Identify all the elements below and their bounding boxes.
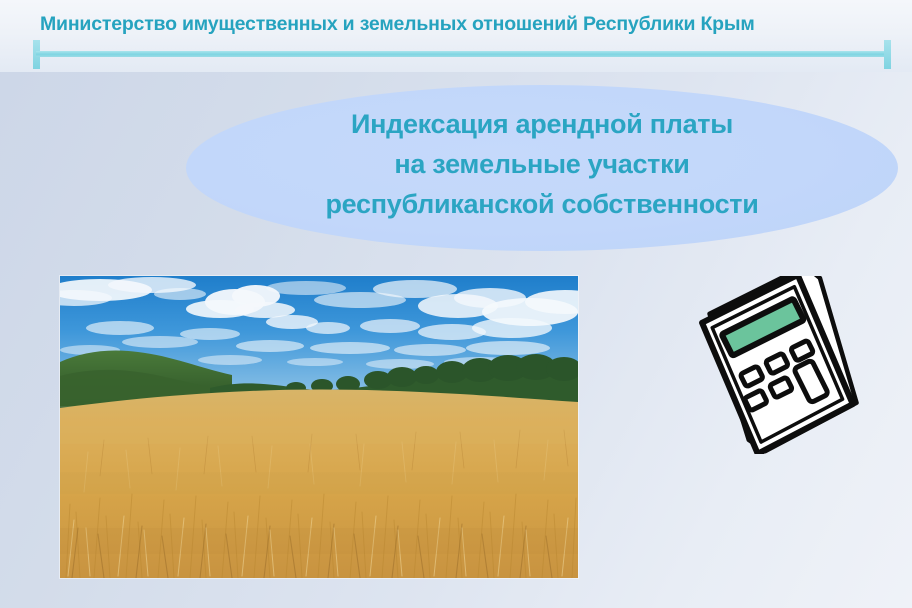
slide-title: Индексация арендной платы на земельные у… — [196, 104, 888, 224]
title-line-1: Индексация арендной платы — [196, 104, 888, 144]
header-rule-line — [36, 51, 889, 57]
title-line-2: на земельные участки — [196, 144, 888, 184]
wheat-field-photo — [60, 276, 578, 578]
title-line-3: республиканской собственности — [196, 184, 888, 224]
calculator-illustration — [686, 276, 872, 454]
rule-cap-right — [884, 40, 891, 69]
ministry-title: Министерство имущественных и земельных о… — [40, 11, 890, 37]
slide-canvas: Министерство имущественных и земельных о… — [0, 0, 912, 608]
